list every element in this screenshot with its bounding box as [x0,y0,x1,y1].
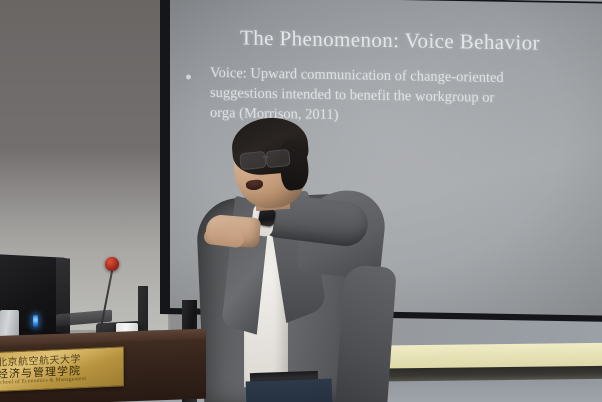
microphone-head-icon [105,257,119,271]
eyeglasses-lens-left [239,151,267,171]
blue-indicator-light [33,315,38,327]
institution-plaque: 北京航空航天大学 经济与管理学院 School of Economics & M… [0,346,124,392]
monitor-edge [56,257,70,340]
jeans [246,379,333,402]
eyeglasses-lens-right [265,149,291,168]
lecture-photo-scene: The Phenomenon: Voice Behavior Voice: Up… [0,0,602,402]
jacket-arm-right [335,264,397,402]
